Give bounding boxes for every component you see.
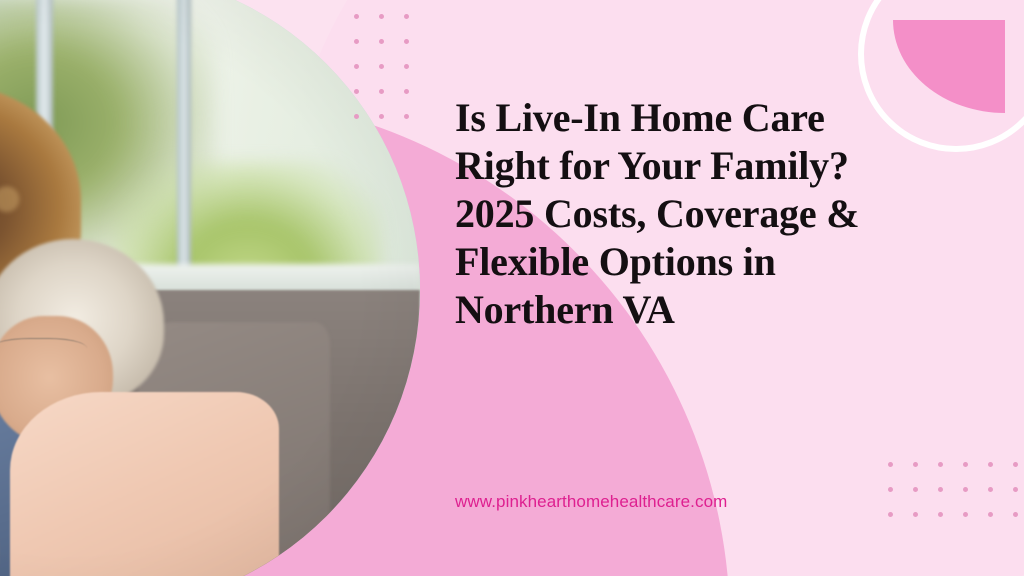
decorative-dot xyxy=(354,89,359,94)
decorative-dot xyxy=(404,64,409,69)
decorative-dot xyxy=(888,487,893,492)
decorative-dot xyxy=(1013,462,1018,467)
dot-grid-top xyxy=(354,14,429,139)
decorative-dot xyxy=(1013,487,1018,492)
headline-line-1: Is Live-In Home Care xyxy=(455,94,925,142)
decorative-dot xyxy=(354,64,359,69)
decorative-dot xyxy=(354,14,359,19)
promo-banner: Is Live-In Home Care Right for Your Fami… xyxy=(0,0,1024,576)
decorative-dot xyxy=(913,487,918,492)
decorative-dot xyxy=(888,462,893,467)
decorative-dot xyxy=(888,512,893,517)
decorative-dot xyxy=(963,462,968,467)
decorative-dot xyxy=(379,114,384,119)
decorative-dot xyxy=(379,14,384,19)
decorative-dot xyxy=(938,512,943,517)
headline-line-3: 2025 Costs, Coverage & xyxy=(455,190,925,238)
decorative-dot xyxy=(988,462,993,467)
decorative-dot xyxy=(913,462,918,467)
headline-line-5: Northern VA xyxy=(455,286,925,334)
decorative-dot xyxy=(404,14,409,19)
decorative-dot xyxy=(354,114,359,119)
decorative-dot xyxy=(379,89,384,94)
decorative-dot xyxy=(938,462,943,467)
website-url[interactable]: www.pinkhearthomehealthcare.com xyxy=(455,492,727,512)
decorative-dot xyxy=(938,487,943,492)
decorative-dot xyxy=(354,39,359,44)
decorative-dot xyxy=(404,114,409,119)
decorative-dot xyxy=(963,512,968,517)
headline-line-4: Flexible Options in xyxy=(455,238,925,286)
decorative-dot xyxy=(379,64,384,69)
decorative-dot xyxy=(379,39,384,44)
decorative-dot xyxy=(988,487,993,492)
decorative-dot xyxy=(988,512,993,517)
decorative-dot xyxy=(963,487,968,492)
headline-line-2: Right for Your Family? xyxy=(455,142,925,190)
decorative-dot xyxy=(913,512,918,517)
decorative-dot xyxy=(404,89,409,94)
page-title: Is Live-In Home Care Right for Your Fami… xyxy=(455,94,925,334)
dot-grid-bottom xyxy=(888,462,1024,537)
decorative-dot xyxy=(1013,512,1018,517)
decorative-dot xyxy=(404,39,409,44)
